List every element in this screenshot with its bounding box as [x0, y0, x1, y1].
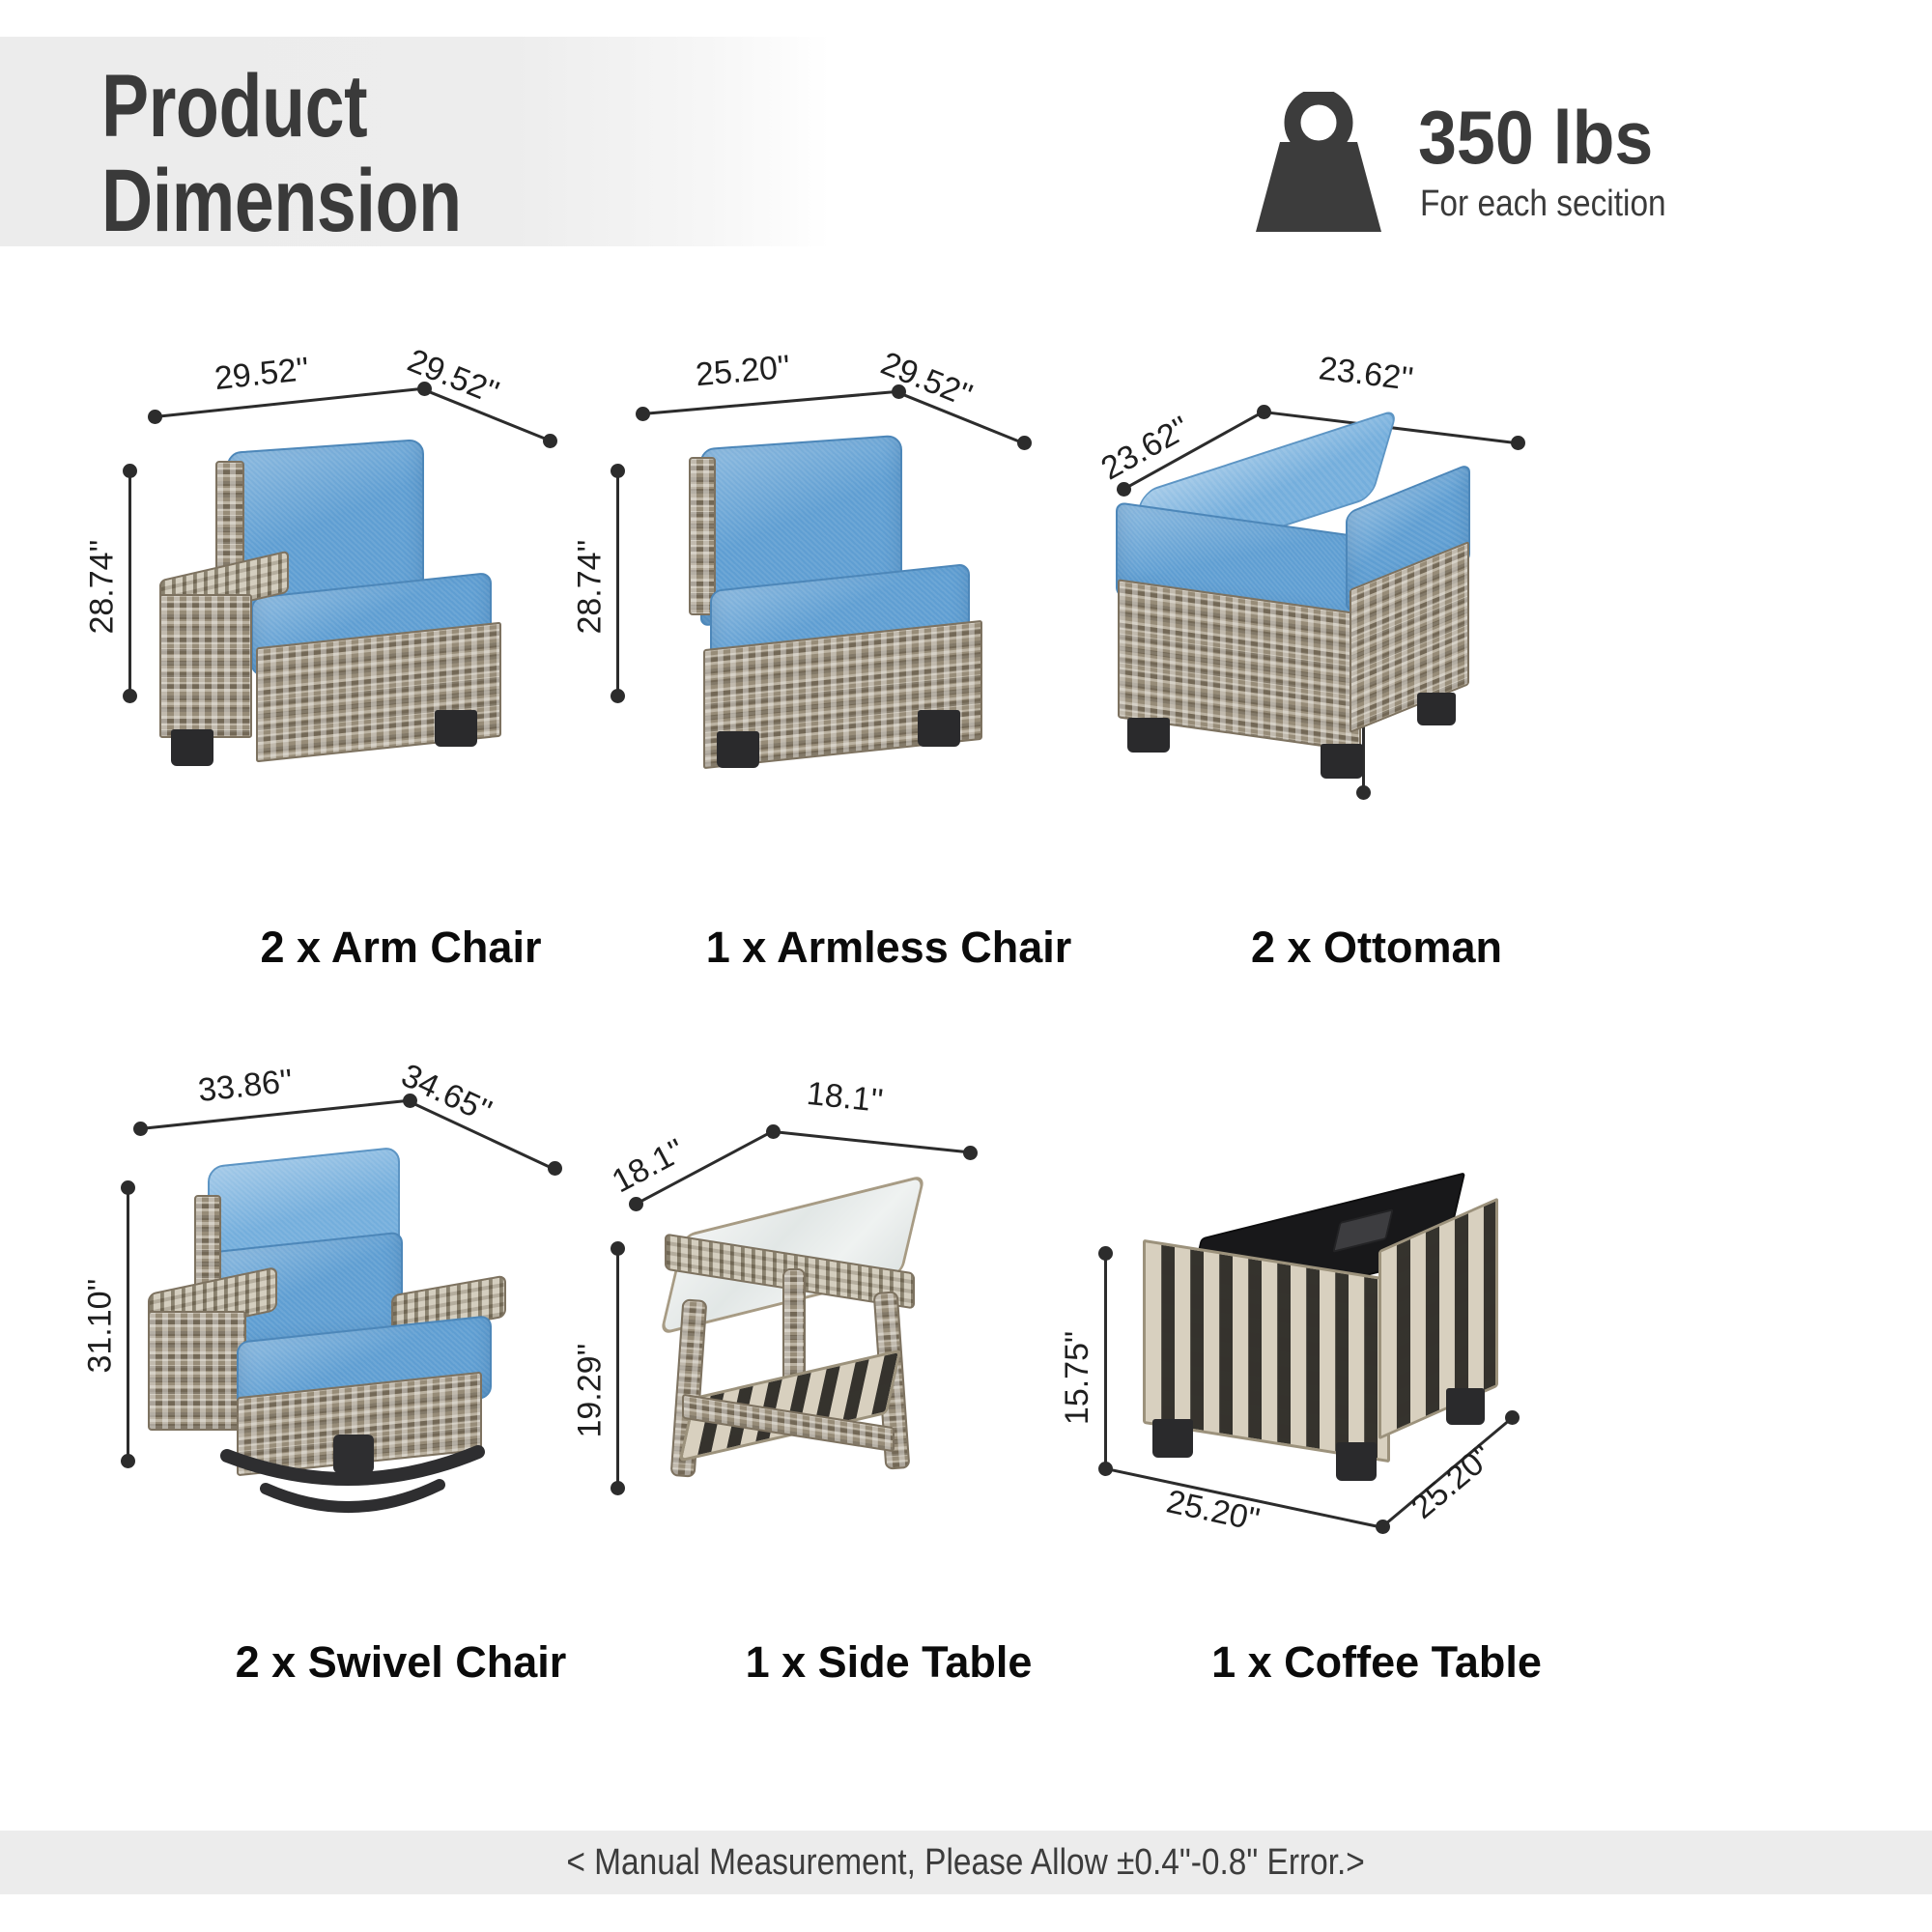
product-cell-coffee-table: 15.75" 25.20" 25.20" 1 x Coffee Table [1077, 1009, 1676, 1705]
dim-line-width [773, 1130, 970, 1153]
ottoman-foot [1417, 693, 1456, 725]
ottoman-foot [1321, 744, 1363, 779]
dim-line-height [128, 469, 131, 696]
dim-label-width: 25.20'' [694, 349, 791, 394]
weight-icon [1246, 92, 1391, 237]
dim-dot [1098, 1246, 1113, 1261]
dim-dot [121, 1454, 135, 1468]
dim-dot [611, 1481, 625, 1495]
dim-dot [123, 689, 137, 703]
dim-label-height: 28.74'' [572, 539, 610, 634]
coffee-table-illustration: 15.75" 25.20" 25.20" [1077, 1009, 1676, 1608]
dim-dot [121, 1180, 135, 1195]
dim-label-depth: 18.1'' [606, 1132, 691, 1202]
dim-label-height: 15.75" [1059, 1331, 1096, 1425]
dim-dot [611, 1241, 625, 1256]
dim-dot [1017, 436, 1032, 450]
dim-dot [1511, 436, 1525, 450]
weight-capacity-badge: 350 lbs For each secition [1246, 92, 1845, 246]
chair-foot [717, 731, 759, 768]
product-label-ottoman: 2 x Ottoman [1077, 923, 1676, 973]
swivel-base [208, 1435, 497, 1541]
weight-subtitle: For each secition [1420, 184, 1666, 225]
armrest-side [159, 594, 252, 738]
dim-label-depth: 25.20" [1405, 1437, 1500, 1526]
chair-foot [918, 710, 960, 747]
chair-foot [435, 710, 477, 747]
dim-line-height [616, 469, 619, 696]
dim-line-height [127, 1185, 129, 1461]
chair-foot [171, 729, 213, 766]
product-label-coffee-table: 1 x Coffee Table [1077, 1637, 1676, 1688]
dim-dot [611, 464, 625, 478]
backrest-frame [689, 457, 716, 615]
dim-dot [148, 410, 162, 424]
dim-label-width: 23.62'' [1317, 350, 1415, 399]
product-grid: 29.52'' 29.52'' 28.74'' 2 x Arm Chair [0, 246, 1932, 1739]
dim-dot [1505, 1410, 1520, 1425]
ottoman-illustration: 23.62'' 23.62'' 13.19'' [1077, 295, 1676, 894]
footer-disclaimer-text: < Manual Measurement, Please Allow ±0.4"… [567, 1842, 1365, 1884]
armrest-side-left [148, 1311, 246, 1431]
dim-dot [543, 434, 557, 448]
dim-label-width: 25.20" [1163, 1483, 1263, 1539]
dim-line-height [1104, 1251, 1107, 1468]
coffee-table-foot [1336, 1442, 1377, 1481]
dim-label-height: 31.10'' [82, 1278, 120, 1373]
weight-value: 350 lbs [1418, 99, 1653, 175]
dim-line-width [155, 387, 424, 418]
dim-dot [133, 1122, 148, 1136]
dim-label-height: 19.29'' [572, 1343, 610, 1437]
dim-line-width [642, 390, 897, 415]
dim-dot [611, 689, 625, 703]
dim-dot [1356, 785, 1371, 800]
ottoman-foot [1127, 718, 1170, 753]
page-title: Product Dimension [101, 60, 689, 248]
dim-dot [636, 407, 650, 421]
dim-line-width [140, 1099, 410, 1130]
page-header: Product Dimension 350 lbs For each secit… [0, 0, 1932, 246]
dim-dot [963, 1146, 978, 1160]
dim-dot [548, 1161, 562, 1176]
footer-disclaimer-bar: < Manual Measurement, Please Allow ±0.4"… [0, 1831, 1932, 1894]
coffee-table-foot [1446, 1388, 1485, 1425]
dim-dot [629, 1197, 643, 1211]
dim-label-width: 33.86'' [196, 1063, 295, 1110]
dim-label-width: 18.1'' [805, 1075, 885, 1121]
dim-label-width: 29.52'' [213, 351, 311, 398]
dim-line-height [616, 1246, 619, 1488]
dim-label-height: 28.74'' [84, 539, 122, 634]
coffee-table-foot [1152, 1419, 1193, 1458]
dim-dot [123, 464, 137, 478]
side-table-leg [782, 1268, 806, 1388]
product-cell-ottoman: 23.62'' 23.62'' 13.19'' 2 x Ottoman [1077, 295, 1676, 990]
